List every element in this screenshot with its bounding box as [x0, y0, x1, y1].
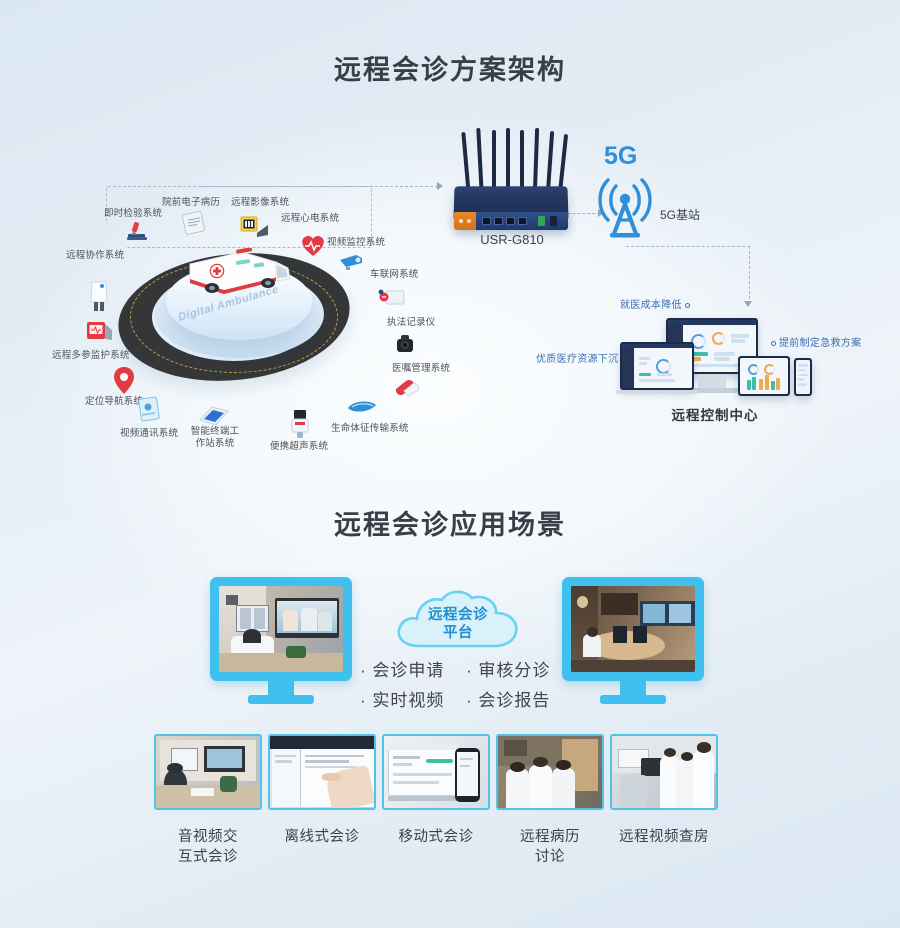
- router-antenna: [546, 131, 554, 194]
- feature-item-apply: · 会诊申请: [360, 656, 444, 681]
- feature-text-apply: 会诊申请: [372, 661, 444, 680]
- monitor-device-icon: [84, 318, 114, 351]
- tablet-workstation-icon: [198, 404, 230, 433]
- tablet-device: [738, 356, 790, 396]
- monitor-frame: [562, 577, 704, 681]
- system-label-order-mgmt: 医嘱管理系统: [392, 363, 450, 375]
- video-phone-icon: [136, 396, 162, 431]
- control-center-devices: [620, 318, 810, 402]
- doctor-avatar-icon: [88, 268, 110, 317]
- base-station-label: 5G基站: [660, 206, 700, 223]
- monitor-stand: [698, 374, 726, 388]
- feature-text-report: 会诊报告: [478, 691, 550, 710]
- imaging-display-icon: [240, 215, 270, 244]
- thumbnail-label-remote-record: 远程病历讨论: [492, 828, 608, 867]
- system-label-prehospital-emr: 院前电子病历: [162, 197, 220, 209]
- ambulance-platform-scene: Digital Ambulance: [112, 246, 364, 396]
- system-label-law-recorder: 执法记录仪: [387, 317, 436, 329]
- benefit-label-resource: 优质医疗资源下沉: [536, 350, 629, 365]
- thumbnail-video-ward-round[interactable]: [610, 734, 718, 810]
- router-antenna: [492, 130, 496, 194]
- infographic-canvas: 远程会诊方案架构: [0, 0, 900, 928]
- bullet-dot-icon: ·: [360, 691, 367, 710]
- system-label-tele-imaging: 远程影像系统: [231, 197, 289, 209]
- feature-item-triage: · 审核分诊: [466, 656, 550, 681]
- connector-arrow-to-center: [744, 301, 752, 307]
- system-label-iov: 车联网系统: [370, 269, 419, 281]
- connector-tower-to-center-v: [749, 246, 750, 304]
- router-antenna: [520, 130, 524, 194]
- bullet-dot-icon: ·: [466, 661, 473, 680]
- router-device: [452, 128, 572, 228]
- ambulance-vehicle: [184, 248, 298, 306]
- thumbnail-remote-record[interactable]: [496, 734, 604, 810]
- thumbnail-label-av-interactive: 音视频交互式会诊: [146, 828, 270, 867]
- benefit-marker-icon: [685, 303, 690, 308]
- monitor-base: [248, 695, 314, 704]
- scenarios-section-title: 远程会诊应用场景: [0, 503, 900, 542]
- cloud-platform-text: 远程会诊 平台: [392, 606, 524, 642]
- connector-tower-to-center-h: [626, 246, 750, 247]
- router-antenna: [533, 128, 539, 194]
- benefit-text-cost: 就医成本降低: [620, 300, 682, 311]
- router-label: USR-G810: [452, 232, 572, 247]
- thumbnail-mobile-consult[interactable]: [382, 734, 490, 810]
- monitor-photo-consultation-room: [219, 586, 343, 672]
- medicine-capsule-icon: [392, 378, 422, 401]
- bullet-dot-icon: ·: [466, 691, 473, 710]
- tablet-screen: [740, 358, 788, 394]
- iov-car-icon: [378, 285, 408, 314]
- architecture-section-title: 远程会诊方案架构: [0, 48, 900, 87]
- router-antenna: [506, 128, 510, 194]
- cloud-platform: 远程会诊 平台: [392, 588, 524, 654]
- control-center-title: 远程控制中心: [620, 404, 810, 424]
- thumbnail-label-video-ward-round: 远程视频查房: [596, 828, 732, 848]
- monitor-frame: [210, 577, 352, 681]
- router-front-panel: [454, 212, 568, 230]
- tower-5g-icon: [586, 170, 664, 240]
- feature-text-triage: 审核分诊: [478, 661, 550, 680]
- vital-sensor-icon: [346, 398, 378, 421]
- thumbnail-label-offline-consult: 离线式会诊: [262, 828, 382, 848]
- laptop-device: [620, 342, 694, 390]
- laptop-base: [616, 390, 698, 394]
- cloud-line-1: 远程会诊: [392, 606, 524, 624]
- system-label-tele-ecg: 远程心电系统: [281, 213, 339, 225]
- laptop-screen: [622, 344, 692, 388]
- ultrasound-icon: [288, 408, 312, 445]
- feature-item-video: · 实时视频: [360, 686, 444, 711]
- feature-item-report: · 会诊报告: [466, 686, 550, 711]
- cloud-line-2: 平台: [392, 624, 524, 642]
- router-antenna: [476, 128, 483, 194]
- thumbnail-av-interactive[interactable]: [154, 734, 262, 810]
- monitor-photo-conference-room: [571, 586, 695, 672]
- tower-5g-badge: 5G: [604, 142, 637, 171]
- bullet-dot-icon: ·: [360, 661, 367, 680]
- microscope-icon: [124, 218, 150, 249]
- monitor-base: [600, 695, 666, 704]
- clipboard-icon: [180, 210, 208, 241]
- law-recorder-icon: [392, 331, 418, 362]
- feature-text-video: 实时视频: [372, 691, 444, 710]
- connector-arrow-to-router: [437, 182, 443, 190]
- phone-device: [794, 358, 812, 396]
- connector-systems-to-router: [200, 186, 438, 187]
- thumbnail-offline-consult[interactable]: [268, 734, 376, 810]
- benefit-text-resource: 优质医疗资源下沉: [536, 354, 618, 365]
- router-antenna: [461, 132, 470, 194]
- benefit-label-cost: 就医成本降低: [620, 296, 693, 311]
- phone-screen: [796, 360, 810, 394]
- system-label-vital-transmission: 生命体征传输系统: [331, 423, 409, 435]
- thumbnail-label-mobile-consult: 移动式会诊: [376, 828, 496, 848]
